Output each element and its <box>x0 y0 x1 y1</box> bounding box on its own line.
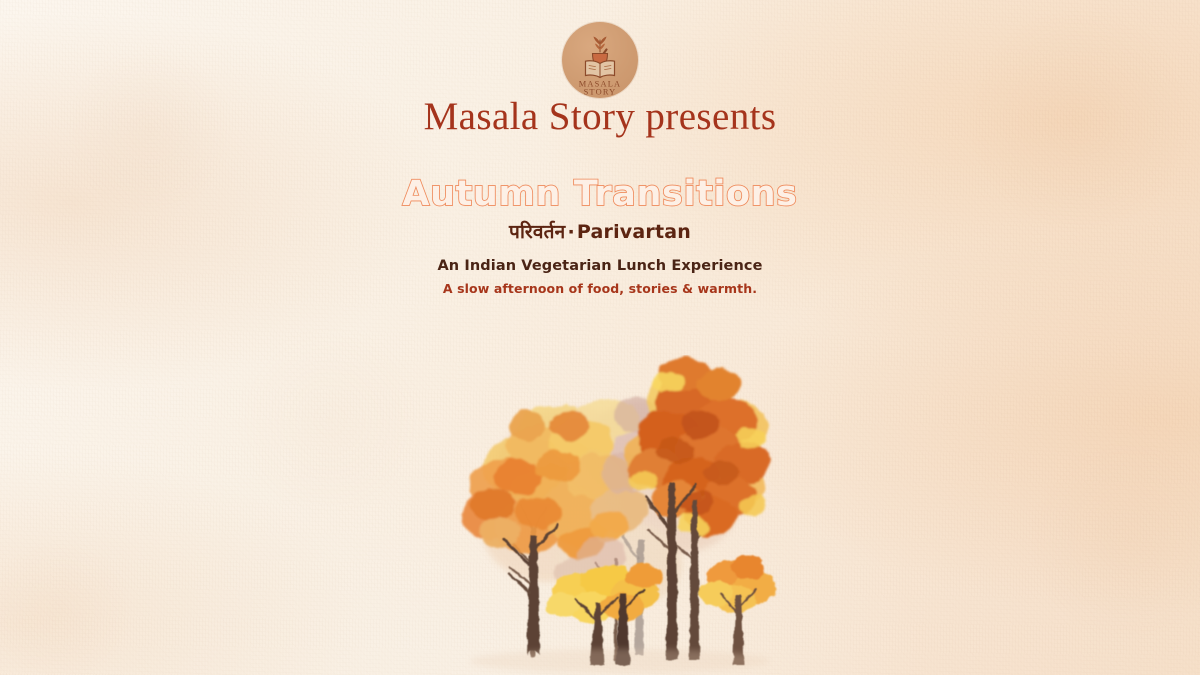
title-transliteration: Parivartan <box>577 221 691 243</box>
watercolor-autumn-trees <box>430 355 790 675</box>
logo-container: MASALA STORY <box>0 22 1200 98</box>
tagline: A slow afternoon of food, stories & warm… <box>0 281 1200 296</box>
event-title: Autumn Transitions <box>0 176 1200 213</box>
experience-line: An Indian Vegetarian Lunch Experience <box>0 258 1200 274</box>
text-content: Masala Story presents Autumn Transitions… <box>0 96 1200 296</box>
ground-wash <box>470 649 770 673</box>
poster-canvas: MASALA STORY Masala Story presents Autum… <box>0 0 1200 675</box>
masala-story-logo[interactable]: MASALA STORY <box>562 22 638 98</box>
title-separator: · <box>565 221 576 243</box>
book-mortar-pestle-icon: MASALA STORY <box>562 22 638 98</box>
presents-heading: Masala Story presents <box>0 96 1200 139</box>
event-subtitle-bilingual: परिवर्तन·Parivartan <box>0 218 1200 244</box>
trees-illustration-svg <box>430 355 790 675</box>
title-devanagari: परिवर्तन <box>509 221 565 243</box>
